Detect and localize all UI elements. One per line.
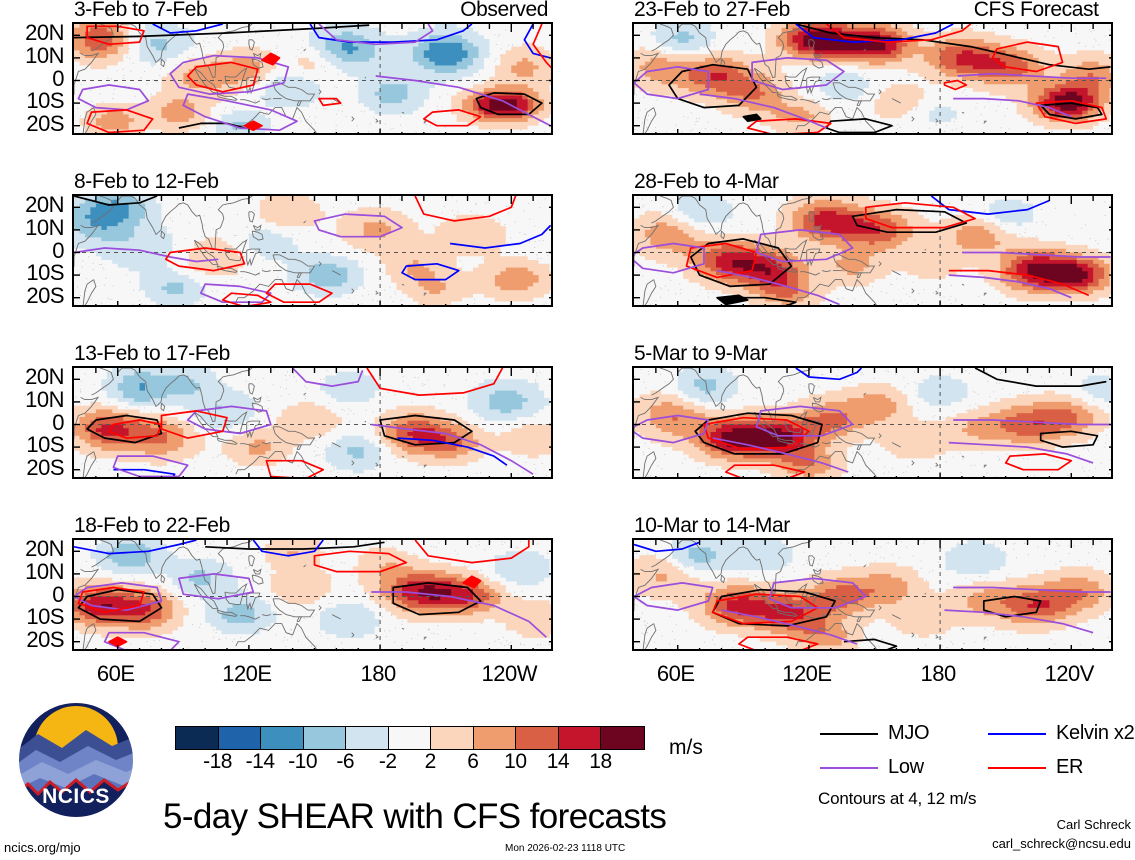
panel-title-p3: 13-Feb to 17-Feb (74, 342, 230, 366)
map-render-p4 (74, 540, 553, 651)
x-tick-label: 60E (84, 661, 148, 687)
colorbar-swatch-5 (389, 727, 432, 749)
map-render-p2 (74, 196, 553, 307)
y-tick-label: 20S (0, 455, 64, 481)
colorbar-swatch-8 (516, 727, 559, 749)
colorbar-swatch-1 (219, 727, 262, 749)
y-tick-label: 20S (0, 283, 64, 309)
x-tick-label: 60E (644, 661, 708, 687)
x-tick-label: 120W (477, 661, 541, 687)
panel-title-p5: 23-Feb to 27-Feb (634, 0, 790, 22)
legend-label-er: ER (1056, 756, 1083, 779)
x-tick-label: 180 (346, 661, 410, 687)
map-render-p3 (74, 368, 553, 479)
panel-title-p1: 3-Feb to 7-Feb (74, 0, 207, 22)
map-panel-p2 (72, 194, 553, 307)
legend-label-kelvin-x2: Kelvin x2 (1056, 722, 1134, 745)
legend-line-kelvin-x2 (988, 733, 1046, 735)
colorbar-swatch-0 (176, 727, 219, 749)
map-render-p7 (634, 368, 1113, 479)
map-render-p8 (634, 540, 1113, 651)
ncics-logo: NCICS (16, 700, 136, 820)
colorbar-swatch-6 (431, 727, 474, 749)
legend-line-low (820, 767, 878, 769)
colorbar-swatch-3 (304, 727, 347, 749)
colorbar-unit-label: m/s (669, 736, 703, 760)
panel-tag-p1: Observed (460, 0, 548, 22)
map-panel-p5 (632, 22, 1113, 135)
contours-note: Contours at 4, 12 m/s (818, 789, 976, 809)
map-panel-p8 (632, 538, 1113, 651)
colorbar-swatch-7 (474, 727, 517, 749)
x-tick-label: 120E (215, 661, 279, 687)
colorbar-swatch-2 (261, 727, 304, 749)
map-render-p1 (74, 24, 553, 135)
x-tick-label: 120E (775, 661, 839, 687)
author-email: carl_schreck@ncsu.edu (935, 836, 1131, 851)
timestamp: Mon 2026-02-23 1118 UTC (505, 843, 625, 854)
panel-tag-p5: CFS Forecast (974, 0, 1099, 22)
colorbar (175, 726, 645, 750)
x-tick-label: 180 (906, 661, 970, 687)
map-panel-p4 (72, 538, 553, 651)
map-panel-p6 (632, 194, 1113, 307)
colorbar-swatch-10 (601, 727, 644, 749)
map-panel-p7 (632, 366, 1113, 479)
map-render-p6 (634, 196, 1113, 307)
legend-label-mjo: MJO (888, 722, 929, 745)
map-panel-p3 (72, 366, 553, 479)
y-tick-label: 20S (0, 111, 64, 137)
map-panel-p1 (72, 22, 553, 135)
site-url: ncics.org/mjo (4, 840, 81, 855)
panel-title-p7: 5-Mar to 9-Mar (634, 342, 767, 366)
colorbar-swatch-9 (559, 727, 602, 749)
panel-title-p4: 18-Feb to 22-Feb (74, 514, 230, 538)
page-title: 5-day SHEAR with CFS forecasts (163, 797, 666, 837)
colorbar-swatch-4 (346, 727, 389, 749)
panel-title-p2: 8-Feb to 12-Feb (74, 170, 219, 194)
x-tick-label: 120V (1037, 661, 1101, 687)
panel-title-p8: 10-Mar to 14-Mar (634, 514, 790, 538)
legend-line-mjo (820, 733, 878, 735)
author-name: Carl Schreck (935, 817, 1131, 832)
legend-label-low: Low (888, 756, 924, 779)
colorbar-tick-label: 18 (574, 750, 626, 774)
map-render-p5 (634, 24, 1113, 135)
panel-title-p6: 28-Feb to 4-Mar (634, 170, 779, 194)
y-tick-label: 20S (0, 627, 64, 653)
legend-line-er (988, 767, 1046, 769)
